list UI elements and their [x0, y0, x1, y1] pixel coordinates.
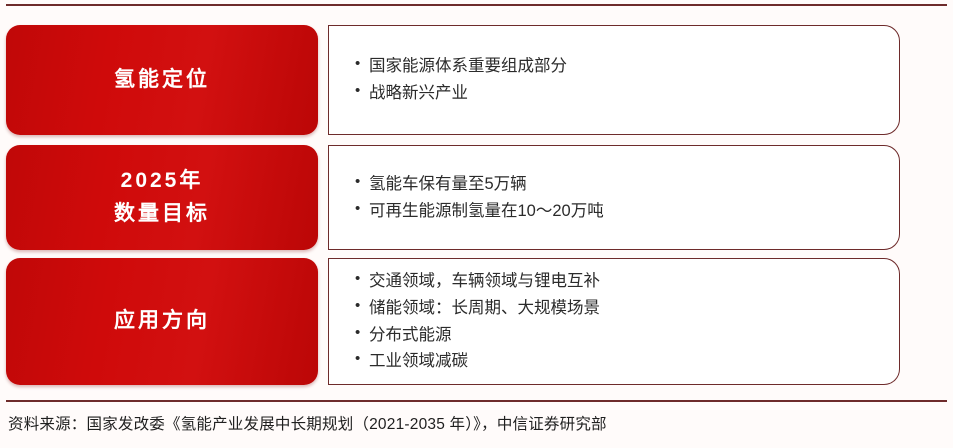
row-label-box-targets: 2025年 数量目标 — [6, 145, 318, 250]
row-content-box-targets: 氢能车保有量至5万辆 可再生能源制氢量在10～20万吨 — [328, 145, 900, 250]
bullet-item: 国家能源体系重要组成部分 — [355, 53, 899, 80]
row-label-box-positioning: 氢能定位 — [6, 25, 318, 135]
source-note: 资料来源：国家发改委《氢能产业发展中长期规划（2021-2035 年）》，中信证… — [8, 412, 607, 434]
footer-divider-rule — [6, 400, 947, 402]
row-label-box-applications: 应用方向 — [6, 258, 318, 385]
bullet-item: 工业领域减碳 — [355, 348, 899, 375]
row-label-line: 2025年 — [121, 165, 204, 198]
row-content-box-positioning: 国家能源体系重要组成部分 战略新兴产业 — [328, 25, 900, 135]
bullet-item: 交通领域，车辆领域与锂电互补 — [355, 268, 899, 295]
bullet-item: 可再生能源制氢量在10～20万吨 — [355, 198, 899, 225]
bullet-item: 氢能车保有量至5万辆 — [355, 171, 899, 198]
hydrogen-policy-diagram: 氢能定位 国家能源体系重要组成部分 战略新兴产业 2025年 数量目标 氢能车保… — [0, 18, 953, 390]
diagram-row-applications: 应用方向 交通领域，车辆领域与锂电互补 储能领域：长周期、大规模场景 分布式能源… — [0, 258, 953, 385]
bullet-item: 储能领域：长周期、大规模场景 — [355, 295, 899, 322]
bullet-item: 分布式能源 — [355, 322, 899, 349]
bullet-item: 战略新兴产业 — [355, 80, 899, 107]
diagram-row-targets: 2025年 数量目标 氢能车保有量至5万辆 可再生能源制氢量在10～20万吨 — [0, 145, 953, 250]
diagram-row-positioning: 氢能定位 国家能源体系重要组成部分 战略新兴产业 — [0, 25, 953, 135]
row-label-line: 数量目标 — [114, 198, 210, 231]
row-label-line: 应用方向 — [114, 305, 210, 338]
row-content-box-applications: 交通领域，车辆领域与锂电互补 储能领域：长周期、大规模场景 分布式能源 工业领域… — [328, 258, 900, 385]
top-divider-rule — [6, 4, 947, 6]
row-label-line: 氢能定位 — [114, 64, 210, 97]
